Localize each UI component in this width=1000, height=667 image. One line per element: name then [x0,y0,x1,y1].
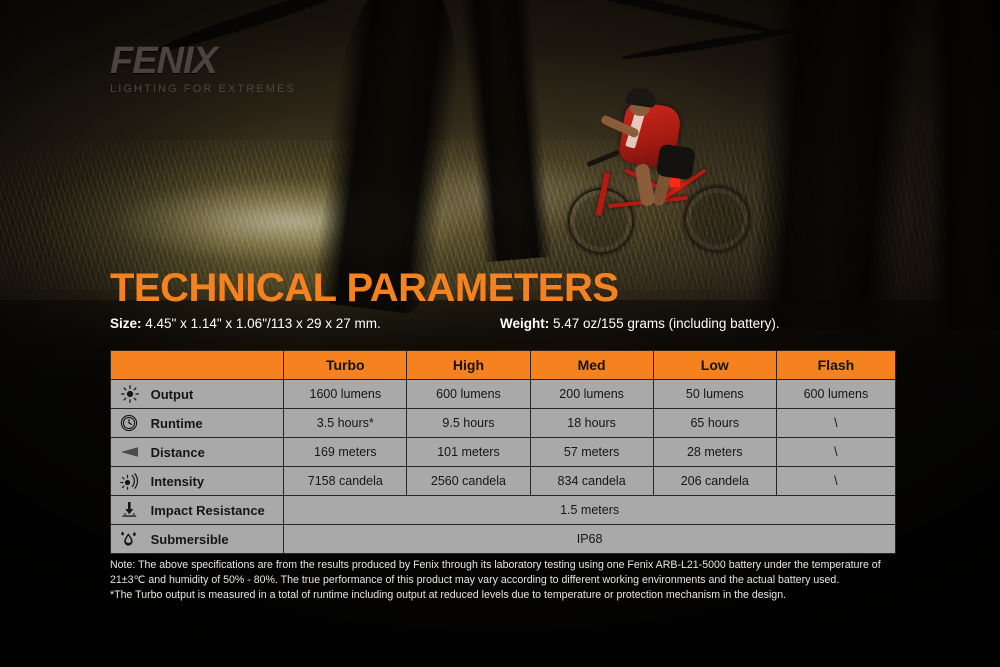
row-header-submersible: Submersible [111,525,283,553]
row-label: Output [151,387,194,402]
water-drop-icon [119,530,141,548]
table-row: Submersible IP68 [111,525,895,553]
size-spec: Size: 4.45" x 1.14" x 1.06"/113 x 29 x 2… [110,316,381,331]
weight-spec: Weight: 5.47 oz/155 grams (including bat… [500,316,780,331]
cell-output-turbo: 1600 lumens [284,380,406,408]
table-corner-cell [111,351,283,379]
cell-output-flash: 600 lumens [777,380,895,408]
cell-intensity-low: 206 candela [654,467,776,495]
clock-icon [119,414,141,432]
cell-runtime-med: 18 hours [531,409,653,437]
specification-table: Turbo High Med Low Flash [110,350,896,554]
dimensions-line: Size: 4.45" x 1.14" x 1.06"/113 x 29 x 2… [110,316,900,331]
cell-distance-turbo: 169 meters [284,438,406,466]
cell-intensity-high: 2560 candela [407,467,529,495]
brand-tagline: LIGHTING FOR EXTREMES [110,83,296,95]
table-row: Impact Resistance 1.5 meters [111,496,895,524]
row-label: Distance [151,445,205,460]
weight-value: 5.47 oz/155 grams (including battery). [553,316,780,331]
cell-output-high: 600 lumens [407,380,529,408]
brand-logo-wordmark: FENIX [110,42,296,80]
impact-arrow-icon [119,501,141,519]
weight-label: Weight: [500,316,549,331]
column-header-med: Med [531,351,653,379]
intensity-icon [119,472,141,490]
footnote-line-1: Note: The above specifications are from … [110,558,900,588]
table-row: Runtime 3.5 hours* 9.5 hours 18 hours 65… [111,409,895,437]
cell-intensity-med: 834 candela [531,467,653,495]
cell-runtime-flash: \ [777,409,895,437]
row-header-intensity: Intensity [111,467,283,495]
cell-output-med: 200 lumens [531,380,653,408]
cell-distance-high: 101 meters [407,438,529,466]
beam-icon [119,443,141,461]
cell-runtime-high: 9.5 hours [407,409,529,437]
table-header-row: Turbo High Med Low Flash [111,351,895,379]
footnote-line-2: *The Turbo output is measured in a total… [110,588,900,603]
cell-intensity-turbo: 7158 candela [284,467,406,495]
row-header-runtime: Runtime [111,409,283,437]
table-row: Distance 169 meters 101 meters 57 meters… [111,438,895,466]
brand-logo: FENIX LIGHTING FOR EXTREMES [110,42,296,95]
product-spec-sheet: FENIX LIGHTING FOR EXTREMES TECHNICAL PA… [0,0,1000,667]
row-label: Impact Resistance [151,503,265,518]
size-value: 4.45" x 1.14" x 1.06"/113 x 29 x 27 mm. [145,316,381,331]
sun-icon [119,385,141,403]
row-header-output: Output [111,380,283,408]
cell-runtime-turbo: 3.5 hours* [284,409,406,437]
cell-submersible-value: IP68 [284,525,895,553]
table-row: Output 1600 lumens 600 lumens 200 lumens… [111,380,895,408]
cell-runtime-low: 65 hours [654,409,776,437]
column-header-low: Low [654,351,776,379]
size-label: Size: [110,316,142,331]
row-label: Runtime [151,416,203,431]
cell-distance-flash: \ [777,438,895,466]
cell-impact-resistance-value: 1.5 meters [284,496,895,524]
row-label: Intensity [151,474,204,489]
column-header-flash: Flash [777,351,895,379]
cell-distance-low: 28 meters [654,438,776,466]
footnote-block: Note: The above specifications are from … [110,558,900,603]
table-row: Intensity 7158 candela 2560 candela 834 … [111,467,895,495]
table-body: Output 1600 lumens 600 lumens 200 lumens… [111,380,895,553]
cell-intensity-flash: \ [777,467,895,495]
cell-output-low: 50 lumens [654,380,776,408]
table-header: Turbo High Med Low Flash [111,351,895,379]
cell-distance-med: 57 meters [531,438,653,466]
row-header-impact-resistance: Impact Resistance [111,496,283,524]
column-header-high: High [407,351,529,379]
row-label: Submersible [151,532,229,547]
page-title: TECHNICAL PARAMETERS [110,268,619,308]
column-header-turbo: Turbo [284,351,406,379]
row-header-distance: Distance [111,438,283,466]
